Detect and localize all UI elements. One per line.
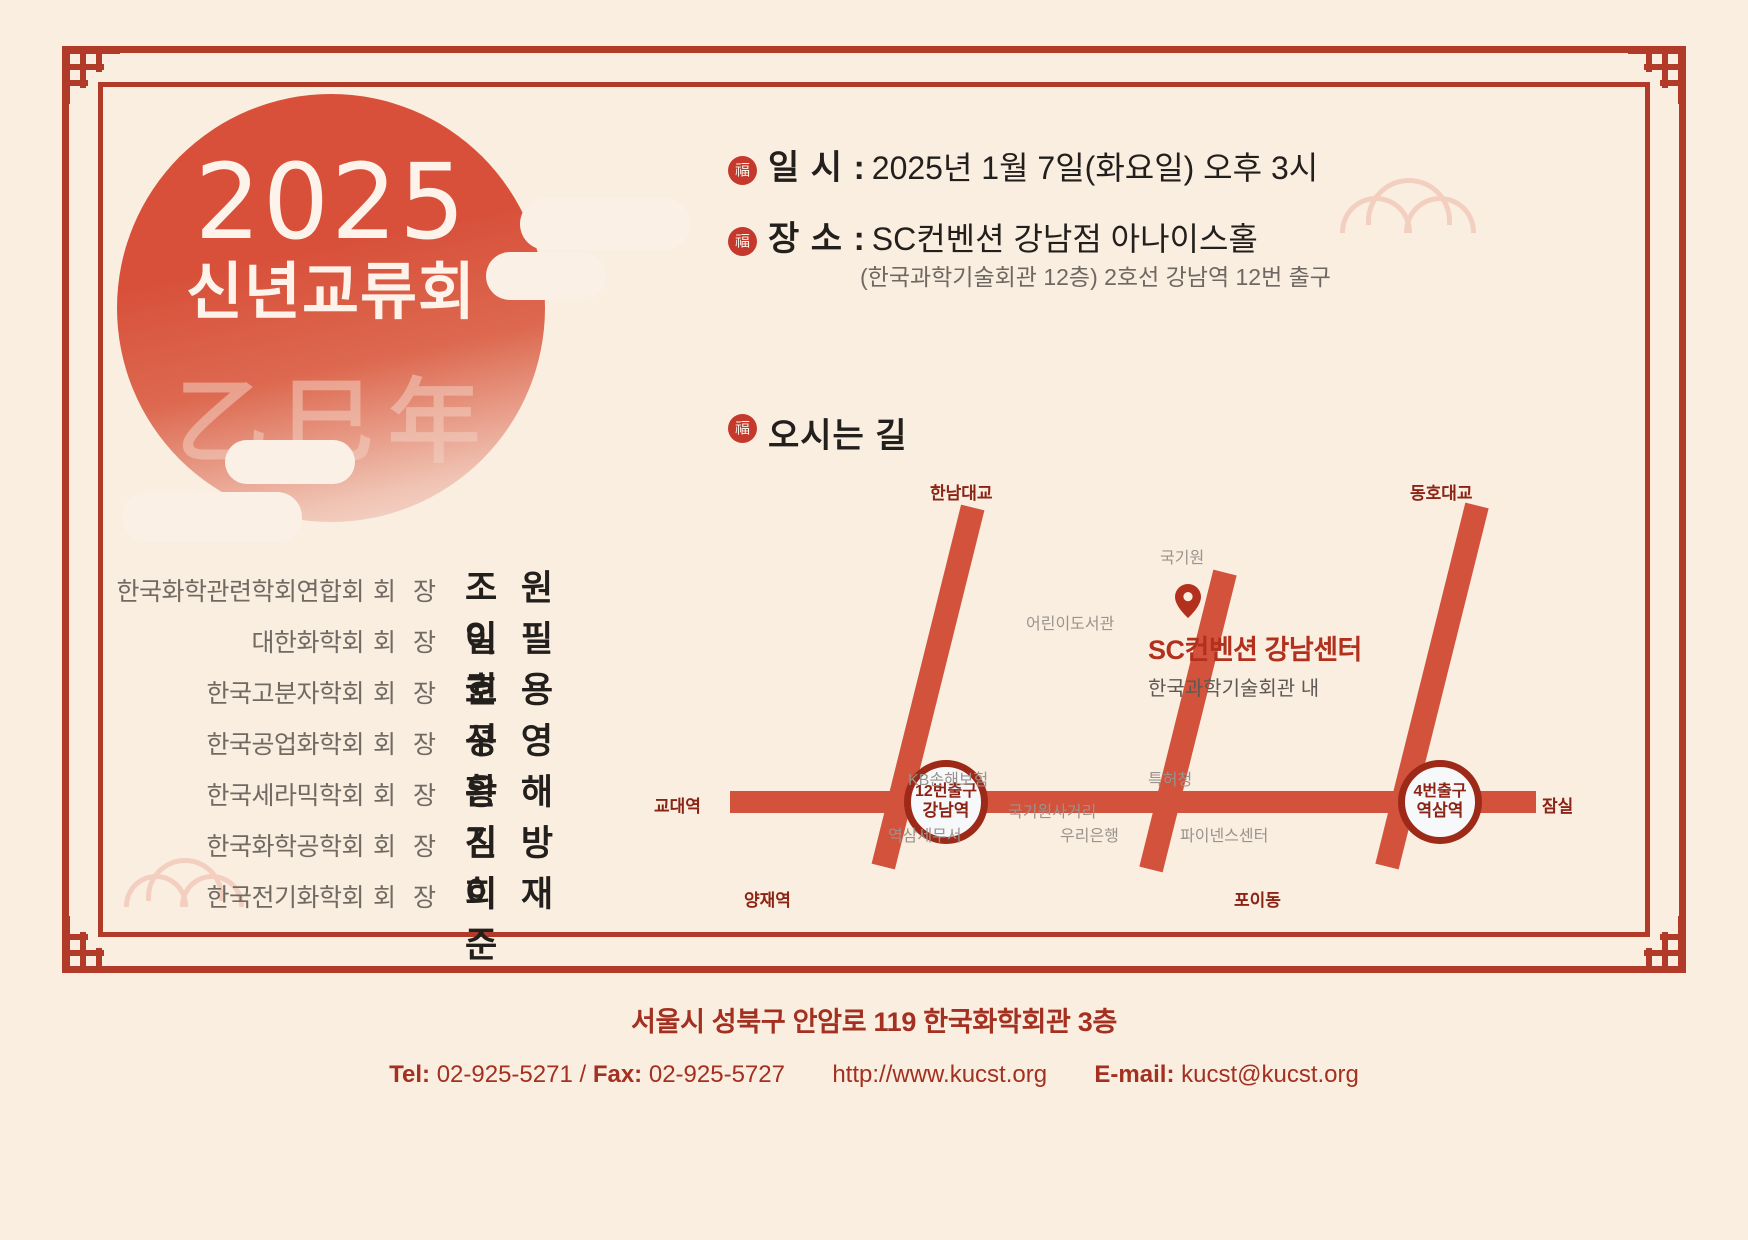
bok-seal-icon: 福: [728, 227, 757, 256]
map-endpoint-poi-dong: 포이동: [1234, 886, 1281, 911]
map-landmark-gukgiwon-intersection: 국기원사거리: [1008, 798, 1096, 822]
corner-ornament-top-left: [50, 34, 128, 112]
list-item: 한국고분자학회 회 장 권 용 구: [110, 662, 590, 712]
president-title: 회 장: [373, 572, 441, 608]
president-org: 한국전기화학회: [207, 878, 365, 914]
map-landmark-finance-center: 파이넨스센터: [1180, 822, 1268, 846]
president-title: 회 장: [373, 776, 441, 812]
corner-ornament-bottom-left: [50, 908, 128, 986]
map-landmark-kb-insurance: KB손해보험: [908, 766, 988, 790]
presidents-list: 한국화학관련학회연합회 회 장 조 원 일 대한화학회 회 장 이 필 호 한국…: [110, 560, 590, 917]
map-endpoint-gyodae: 교대역: [654, 792, 701, 817]
president-org: 한국세라믹학회: [207, 776, 365, 812]
poster-year: 2025: [117, 150, 545, 254]
map-endpoint-jamsil: 잠실: [1542, 792, 1573, 817]
president-org: 한국공업화학회: [207, 725, 365, 761]
president-title: 회 장: [373, 623, 441, 659]
map-landmark-childrens-library: 어린이도서관: [1026, 610, 1114, 634]
cloud-shape-3: [225, 440, 355, 484]
email-value[interactable]: kucst@kucst.org: [1181, 1061, 1359, 1088]
list-item: 한국공업화학회 회 장 성 영 은: [110, 713, 590, 763]
station-exit-label: 4번출구: [1413, 783, 1466, 801]
venue-callout: SC컨벤션 강남센터 한국과학기술회관 내: [1148, 628, 1362, 701]
frame-right-line: [1679, 46, 1686, 973]
list-item: 대한화학회 회 장 이 필 호: [110, 611, 590, 661]
website-link[interactable]: http://www.kucst.org: [832, 1061, 1047, 1088]
event-place-row: 福 장 소 : SC컨벤션 강남점 아나이스홀: [728, 211, 1488, 260]
frame-bottom-inner-line: [98, 932, 1650, 937]
email-label: E-mail:: [1094, 1061, 1174, 1088]
frame-bottom-line: [62, 966, 1686, 973]
frame-left-line: [62, 46, 69, 973]
list-item: 한국화학공학회 회 장 김 방 희: [110, 815, 590, 865]
place-value: SC컨벤션 강남점 아나이스홀: [872, 214, 1258, 260]
frame-top-line: [62, 46, 1686, 53]
list-item: 한국전기화학회 회 장 이 재 준: [110, 866, 590, 916]
cloud-shape-4: [122, 492, 302, 542]
president-name: 이 재 준: [465, 866, 590, 968]
list-item: 한국세라믹학회 회 장 황 해 진: [110, 764, 590, 814]
station-name-label: 역삼역: [1417, 801, 1464, 821]
location-map: 12번출구 강남역 4번출구 역삼역 한남대교 동호대교 교대역 잠실 양재역 …: [640, 480, 1650, 930]
bok-seal-icon: 福: [728, 156, 757, 185]
separator: /: [579, 1061, 586, 1088]
fax-label: Fax:: [593, 1061, 642, 1088]
map-landmark-gukgiwon: 국기원: [1160, 544, 1204, 568]
event-info-block: 福 일 시 : 2025년 1월 7일(화요일) 오후 3시 福 장 소 : S…: [728, 140, 1488, 282]
poster-root: 乙巳年 2025 신년교류회 福 일 시 : 2025년 1월 7일(화요일) …: [0, 0, 1748, 1240]
president-org: 한국고분자학회: [207, 674, 365, 710]
list-item: 한국화학관련학회연합회 회 장 조 원 일: [110, 560, 590, 610]
fax-value: 02-925-5727: [649, 1061, 785, 1088]
bok-seal-icon: 福: [728, 414, 757, 443]
map-landmark-woori-bank: 우리은행: [1060, 822, 1119, 846]
datetime-label: 일 시 :: [768, 140, 866, 189]
map-pin-icon: [1175, 584, 1201, 618]
president-title: 회 장: [373, 674, 441, 710]
event-datetime-row: 福 일 시 : 2025년 1월 7일(화요일) 오후 3시: [728, 140, 1488, 189]
cloud-shape-2: [486, 252, 606, 300]
place-sub-value: (한국과학기술회관 12층) 2호선 강남역 12번 출구: [860, 258, 1331, 292]
map-endpoint-yangjae: 양재역: [744, 886, 791, 911]
president-org: 한국화학관련학회연합회: [117, 572, 365, 608]
poster-subtitle: 신년교류회: [117, 262, 545, 324]
president-org: 대한화학회: [252, 623, 365, 659]
footer-address: 서울시 성북구 안암로 119 한국화학회관 3층: [0, 1000, 1748, 1039]
president-title: 회 장: [373, 878, 441, 914]
president-title: 회 장: [373, 725, 441, 761]
footer-contact-line: Tel: 02-925-5271 / Fax: 02-925-5727 http…: [0, 1061, 1748, 1089]
tel-label: Tel:: [389, 1061, 430, 1088]
map-endpoint-dongho-bridge: 동호대교: [1410, 479, 1473, 504]
frame-left-inner-line: [98, 82, 103, 937]
venue-sub: 한국과학기술회관 내: [1148, 672, 1362, 701]
map-endpoint-hannam-bridge: 한남대교: [930, 479, 993, 504]
directions-heading: 福 오시는 길: [728, 408, 908, 457]
frame-top-inner-line: [98, 82, 1650, 87]
tel-value: 02-925-5271: [437, 1061, 573, 1088]
map-landmark-yeoksam-tax-office: 역삼세무서: [888, 822, 962, 846]
map-landmark-patent-office: 특허청: [1148, 766, 1192, 790]
president-title: 회 장: [373, 827, 441, 863]
president-org: 한국화학공학회: [207, 827, 365, 863]
venue-name: SC컨벤션 강남센터: [1148, 628, 1362, 667]
corner-ornament-top-right: [1620, 34, 1698, 112]
station-name-label: 강남역: [923, 801, 970, 821]
station-marker-yeoksam[interactable]: 4번출구 역삼역: [1398, 760, 1482, 844]
place-label: 장 소 :: [768, 211, 866, 260]
cloud-shape-1: [520, 198, 690, 250]
footer: 서울시 성북구 안암로 119 한국화학회관 3층 Tel: 02-925-52…: [0, 1000, 1748, 1089]
directions-label: 오시는 길: [768, 408, 908, 457]
datetime-value: 2025년 1월 7일(화요일) 오후 3시: [872, 143, 1318, 189]
